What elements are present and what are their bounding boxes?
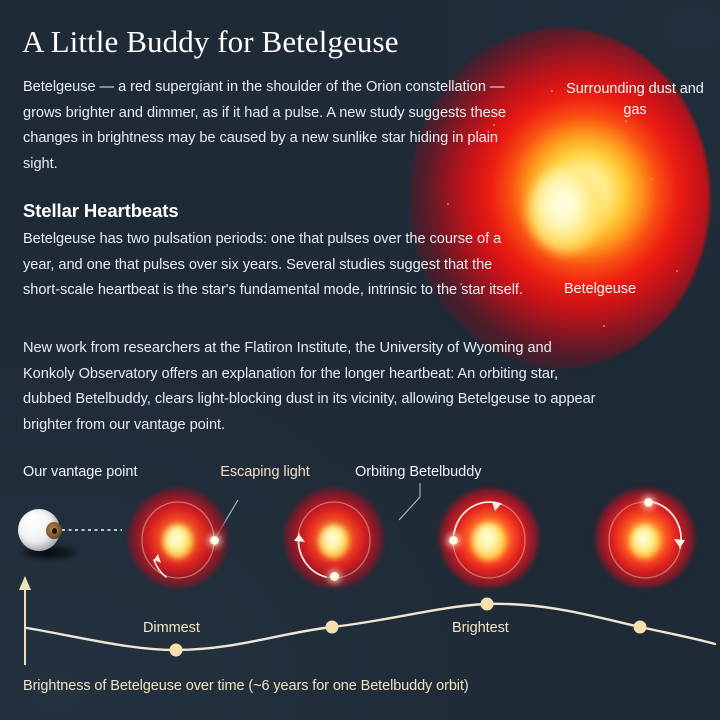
dust-speck [447,203,449,205]
star-core [163,525,193,559]
infographic-page: Surrounding dust and gas Betelgeuse A Li… [0,0,720,720]
betelbuddy-dot-4 [644,498,653,507]
page-title: A Little Buddy for Betelgeuse [22,23,482,61]
star-core [319,525,349,559]
hero-dust-label: Surrounding dust and gas [560,79,710,121]
eye-sclera [18,509,60,551]
chart-point [170,644,183,657]
betelbuddy-dot-1 [210,536,219,545]
section-subhead: Stellar Heartbeats [23,200,179,222]
section-body-2: New work from researchers at the Flatiro… [23,336,603,438]
section-body-1: Betelgeuse has two pulsation periods: on… [23,227,523,304]
betelbuddy-dot-3 [449,536,458,545]
intro-paragraph: Betelgeuse — a red supergiant in the sho… [23,75,523,177]
star-core [472,523,506,561]
eye-icon [16,505,76,565]
chart-point [634,621,647,634]
escaping-light-label: Escaping light [210,463,320,482]
brightness-chart [0,565,720,680]
star-core [630,525,660,559]
y-axis-arrow [19,576,31,665]
chart-caption: Brightness of Betelgeuse over time (~6 y… [23,678,469,694]
orbiting-betelbuddy-label: Orbiting Betelbuddy [355,463,545,482]
vantage-point-label: Our vantage point [23,463,153,482]
dust-speck [676,270,678,272]
brightness-chart-svg [0,565,720,680]
chart-point [326,621,339,634]
sight-line [62,529,122,531]
betelgeuse-core [528,168,604,254]
eye-shadow [23,545,79,560]
dust-speck [603,325,605,327]
hero-star-label: Betelgeuse [530,280,670,299]
brightness-curve [27,604,715,650]
dust-speck [551,90,553,92]
eye-iris [46,522,62,539]
chart-point [481,598,494,611]
eye-pupil [52,528,57,534]
dust-speck [651,178,653,180]
